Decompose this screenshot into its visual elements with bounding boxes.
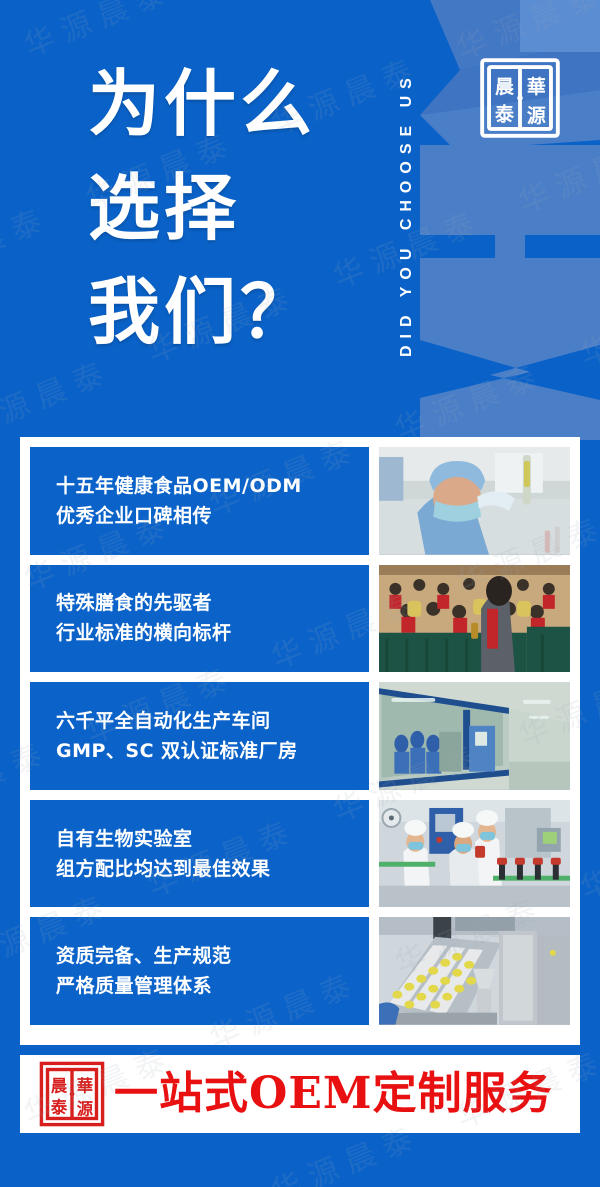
feature-line-1: 十五年健康食品OEM/ODM bbox=[56, 471, 369, 501]
feature-line-2: 组方配比均达到最佳效果 bbox=[56, 854, 369, 884]
bottom-banner: 晨 泰 華 源 一站式OEM定制服务 bbox=[20, 1055, 580, 1133]
feature-line-1: 六千平全自动化生产车间 bbox=[56, 706, 369, 736]
feature-line-2: GMP、SC 双认证标准厂房 bbox=[56, 736, 369, 766]
feature-line-2: 优秀企业口碑相传 bbox=[56, 501, 369, 531]
feature-line-1: 自有生物实验室 bbox=[56, 824, 369, 854]
headline-line-1: 为什么 bbox=[88, 52, 316, 156]
feature-text: 资质完备、生产规范 严格质量管理体系 bbox=[30, 917, 369, 1025]
headline-line-3: 我们？ bbox=[88, 260, 316, 364]
svg-text:泰: 泰 bbox=[494, 102, 515, 125]
svg-text:華: 華 bbox=[527, 75, 546, 98]
svg-text:源: 源 bbox=[527, 104, 546, 127]
feature-row: 十五年健康食品OEM/ODM 优秀企业口碑相传 bbox=[30, 447, 570, 555]
feature-list: 十五年健康食品OEM/ODM 优秀企业口碑相传 bbox=[20, 437, 580, 1045]
banner-headline: 一站式OEM定制服务 bbox=[114, 1072, 553, 1116]
header: 为什么 选择 我们？ DID YOU CHOOSE US 晨 泰 華 源 bbox=[0, 0, 600, 437]
company-seal-red-icon: 晨 泰 華 源 bbox=[38, 1060, 106, 1128]
feature-text: 十五年健康食品OEM/ODM 优秀企业口碑相传 bbox=[30, 447, 369, 555]
feature-line-1: 特殊膳食的先驱者 bbox=[56, 588, 369, 618]
feature-row: 六千平全自动化生产车间 GMP、SC 双认证标准厂房 bbox=[30, 682, 570, 790]
page-title: 为什么 选择 我们？ bbox=[88, 52, 316, 364]
feature-row: 资质完备、生产规范 严格质量管理体系 bbox=[30, 917, 570, 1025]
svg-text:晨: 晨 bbox=[51, 1076, 68, 1095]
feature-photo-conference bbox=[379, 565, 570, 673]
feature-photo-lab-technician bbox=[379, 447, 570, 555]
feature-row: 特殊膳食的先驱者 行业标准的横向标杆 bbox=[30, 565, 570, 673]
svg-text:華: 華 bbox=[77, 1076, 93, 1095]
feature-photo-cleanroom bbox=[379, 682, 570, 790]
feature-line-2: 行业标准的横向标杆 bbox=[56, 618, 369, 648]
svg-text:泰: 泰 bbox=[50, 1098, 68, 1117]
vertical-english-caption: DID YOU CHOOSE US bbox=[398, 14, 426, 414]
poster-root: 为什么 选择 我们？ DID YOU CHOOSE US 晨 泰 華 源 bbox=[0, 0, 600, 1187]
feature-row: 自有生物实验室 组方配比均达到最佳效果 bbox=[30, 800, 570, 908]
feature-line-1: 资质完备、生产规范 bbox=[56, 941, 369, 971]
feature-photo-blister-packaging bbox=[379, 917, 570, 1025]
svg-text:源: 源 bbox=[77, 1099, 94, 1118]
feature-text: 六千平全自动化生产车间 GMP、SC 双认证标准厂房 bbox=[30, 682, 369, 790]
feature-text: 自有生物实验室 组方配比均达到最佳效果 bbox=[30, 800, 369, 908]
headline-line-2: 选择 bbox=[88, 156, 316, 260]
svg-text:晨: 晨 bbox=[495, 76, 514, 98]
company-seal-icon: 晨 泰 華 源 bbox=[477, 52, 563, 144]
feature-photo-production-line bbox=[379, 800, 570, 908]
feature-line-2: 严格质量管理体系 bbox=[56, 971, 369, 1001]
feature-text: 特殊膳食的先驱者 行业标准的横向标杆 bbox=[30, 565, 369, 673]
